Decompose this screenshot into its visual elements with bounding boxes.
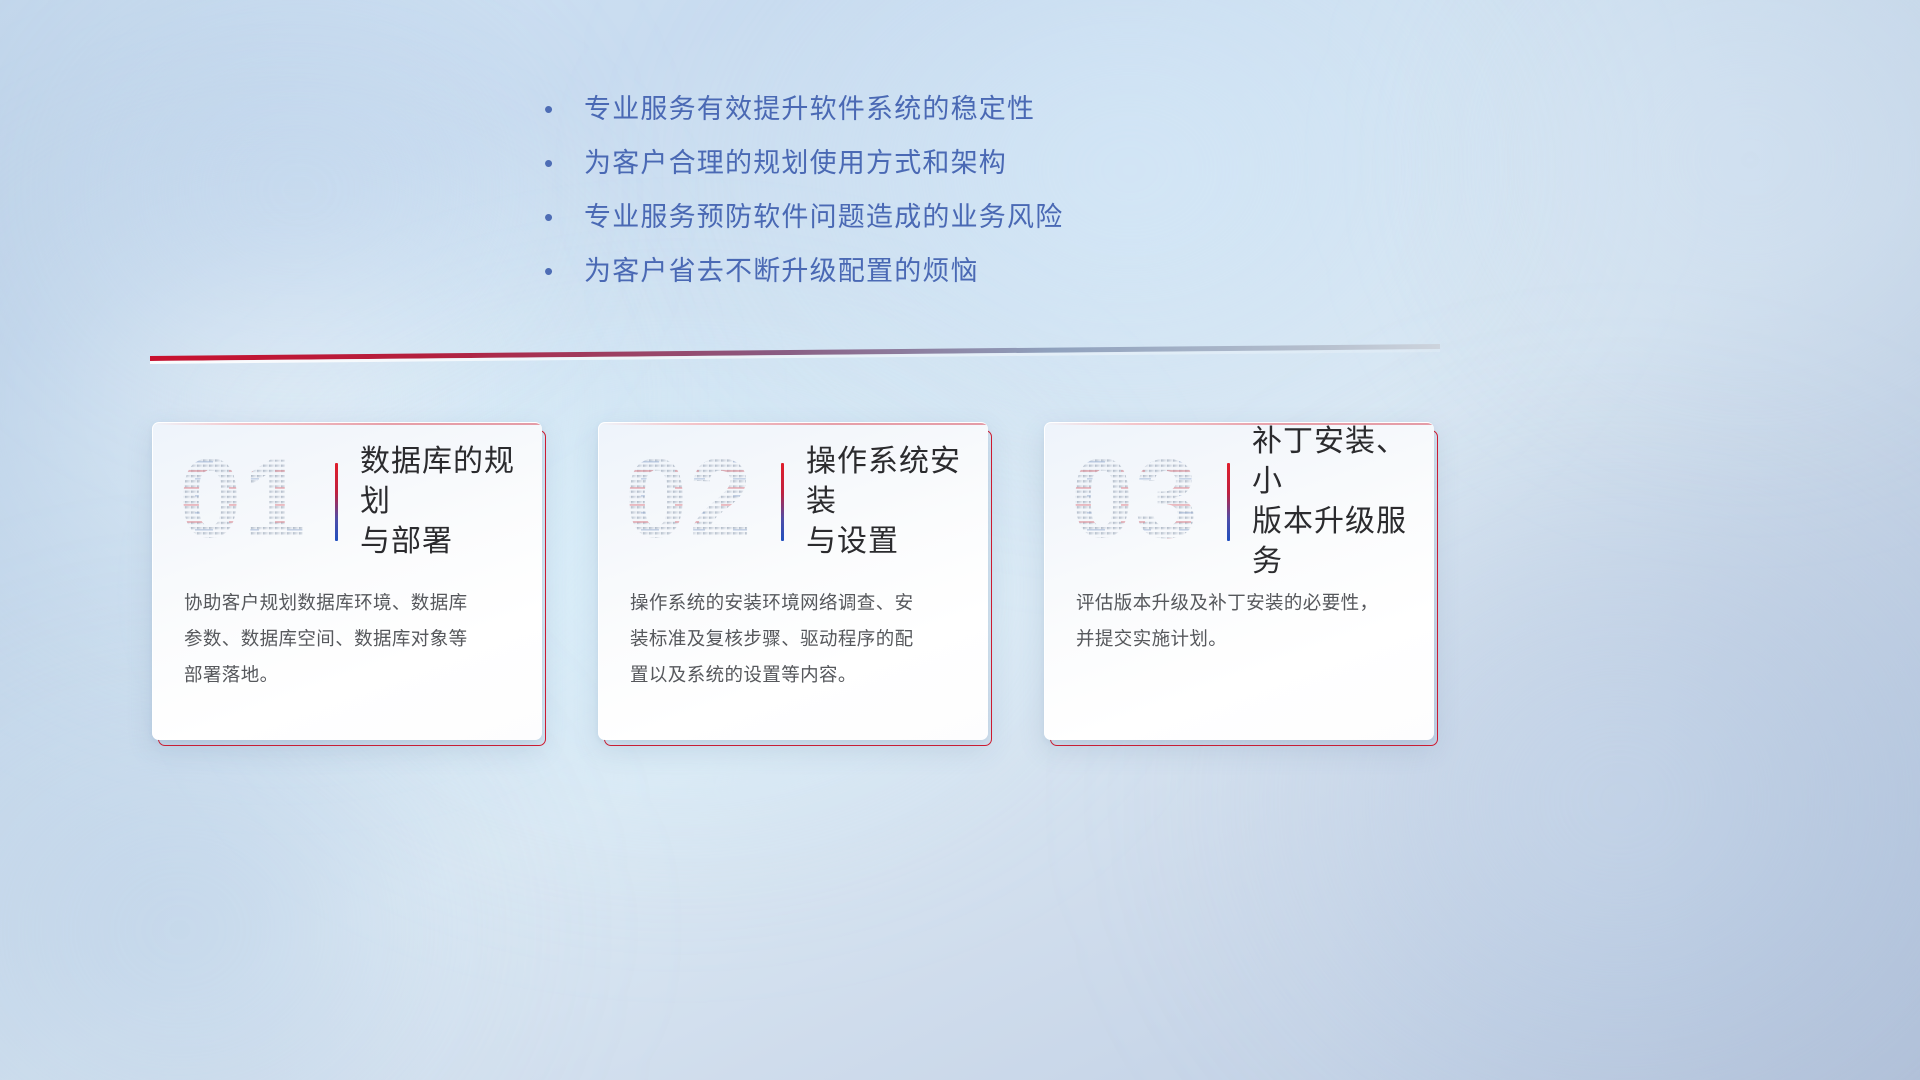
card-header: 01 数据库的规划 与部署	[153, 441, 542, 563]
card-title: 操作系统安装 与设置	[806, 442, 988, 562]
bullet-dot-icon: •	[538, 254, 584, 288]
bullet-dot-icon: •	[538, 92, 584, 126]
service-card[interactable]: 01 数据库的规划 与部署 协助客户规划数据库环境、数据库 参数、数据库空间、数…	[152, 422, 542, 740]
card-title-divider-bar	[335, 463, 338, 541]
bullet-item-label: 专业服务有效提升软件系统的稳定性	[584, 92, 1035, 126]
bullet-item: • 专业服务预防软件问题造成的业务风险	[538, 200, 1063, 234]
card-title: 数据库的规划 与部署	[360, 442, 542, 562]
card-title: 补丁安装、小 版本升级服务	[1252, 422, 1434, 582]
bullet-item: • 专业服务有效提升软件系统的稳定性	[538, 92, 1063, 126]
card-header: 02 操作系统安装 与设置	[599, 441, 988, 563]
benefits-bullet-list: • 专业服务有效提升软件系统的稳定性 • 为客户合理的规划使用方式和架构 • 专…	[538, 92, 1063, 288]
card-surface: 02 操作系统安装 与设置 操作系统的安装环境网络调查、安 装标准及复核步骤、驱…	[598, 422, 988, 740]
card-number-ghost-01: 01	[179, 449, 331, 555]
card-surface: 03 补丁安装、小 版本升级服务 评估版本升级及补丁安装的必要性， 并提交实施计…	[1044, 422, 1434, 740]
bullet-item-label: 为客户省去不断升级配置的烦恼	[584, 254, 979, 288]
service-card[interactable]: 02 操作系统安装 与设置 操作系统的安装环境网络调查、安 装标准及复核步骤、驱…	[598, 422, 988, 740]
bullet-item-label: 专业服务预防软件问题造成的业务风险	[584, 200, 1063, 234]
card-title-divider-bar	[781, 463, 784, 541]
card-description: 操作系统的安装环境网络调查、安 装标准及复核步骤、驱动程序的配 置以及系统的设置…	[630, 585, 960, 693]
bullet-item: • 为客户省去不断升级配置的烦恼	[538, 254, 1063, 288]
bullet-item-label: 为客户合理的规划使用方式和架构	[584, 146, 1007, 180]
service-card[interactable]: 03 补丁安装、小 版本升级服务 评估版本升级及补丁安装的必要性， 并提交实施计…	[1044, 422, 1434, 740]
card-description: 协助客户规划数据库环境、数据库 参数、数据库空间、数据库对象等 部署落地。	[184, 585, 514, 693]
bullet-item: • 为客户合理的规划使用方式和架构	[538, 146, 1063, 180]
bullet-dot-icon: •	[538, 146, 584, 180]
card-surface: 01 数据库的规划 与部署 协助客户规划数据库环境、数据库 参数、数据库空间、数…	[152, 422, 542, 740]
card-header: 03 补丁安装、小 版本升级服务	[1045, 441, 1434, 563]
card-description: 评估版本升级及补丁安装的必要性， 并提交实施计划。	[1076, 585, 1406, 657]
card-number-ghost-03: 03	[1071, 449, 1223, 555]
service-card-list: 01 数据库的规划 与部署 协助客户规划数据库环境、数据库 参数、数据库空间、数…	[152, 422, 1434, 740]
card-title-divider-bar	[1227, 463, 1230, 541]
bullet-dot-icon: •	[538, 200, 584, 234]
card-number-ghost-02: 02	[625, 449, 777, 555]
section-divider	[150, 344, 1440, 370]
